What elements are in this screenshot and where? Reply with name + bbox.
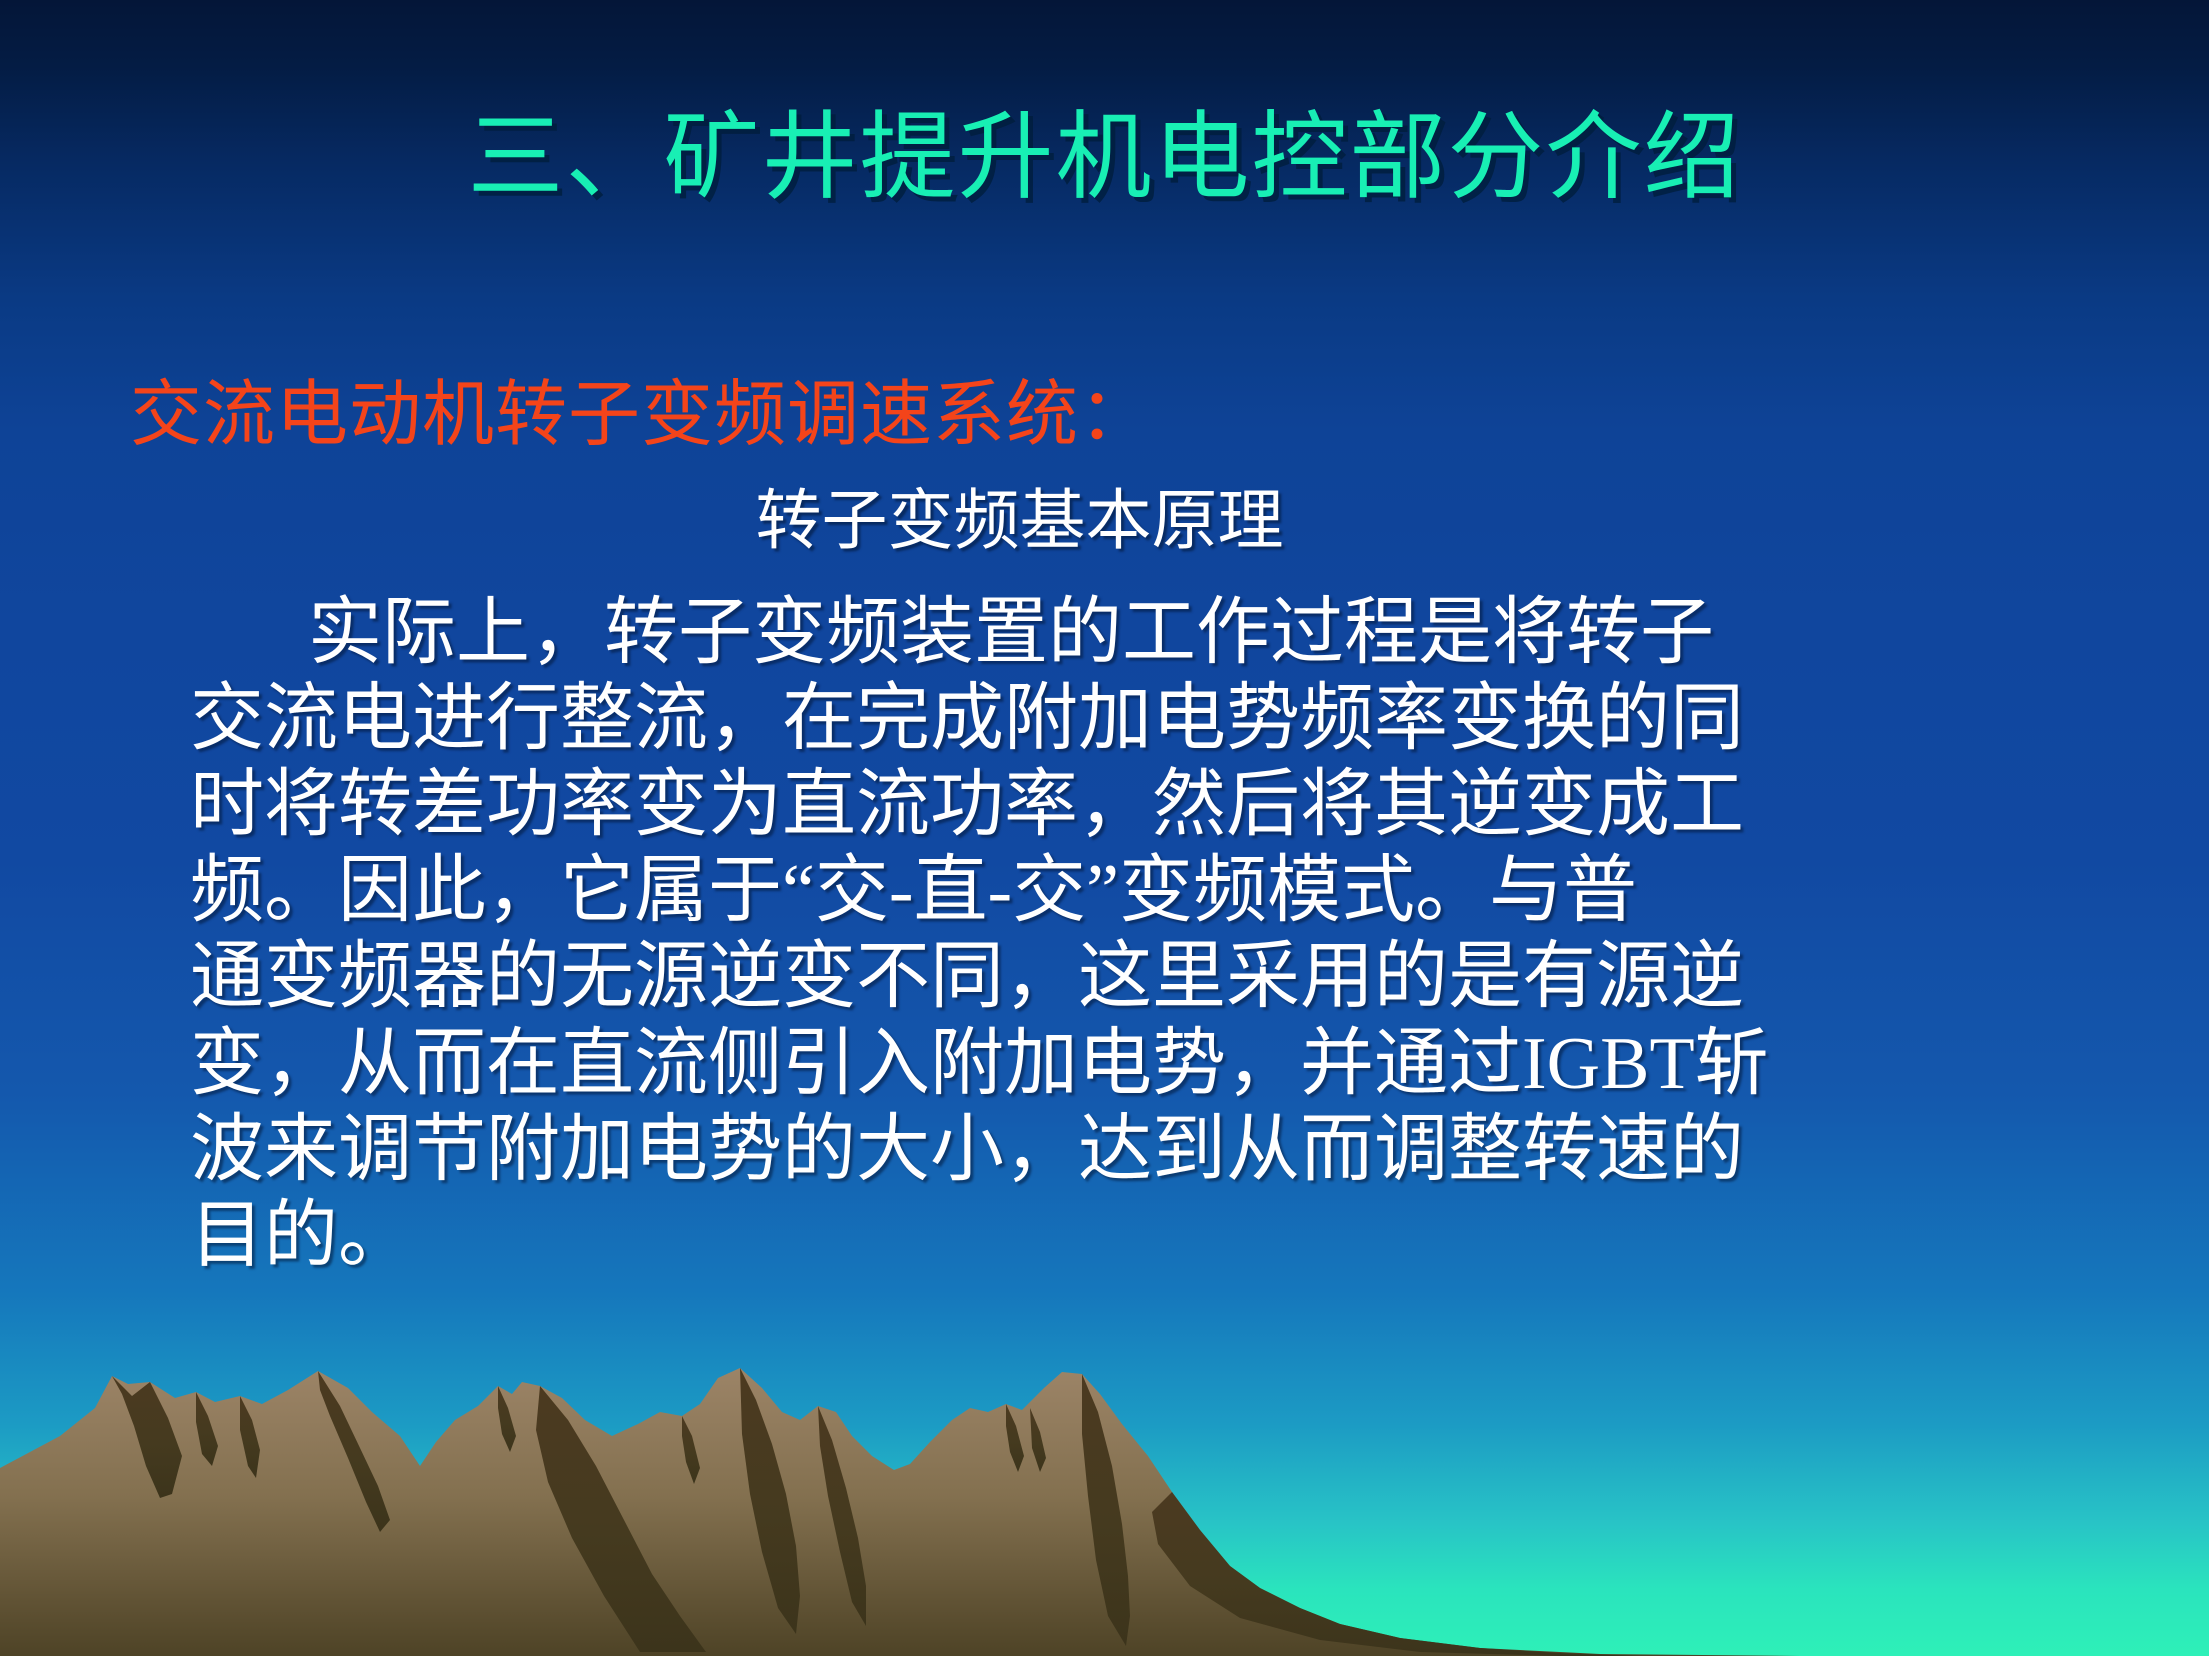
section-heading: 交流电动机转子变频调速系统：: [0, 375, 2209, 456]
slide-title: 三、矿井提升机电控部分介绍: [0, 108, 2209, 209]
mountain-range-silhouette: [0, 1316, 2209, 1656]
paragraph-line: 频。因此，它属于“交-直-交”变频模式。与普: [190, 848, 2109, 934]
presentation-slide: 三、矿井提升机电控部分介绍 交流电动机转子变频调速系统： 转子变频基本原理 实际…: [0, 0, 2209, 1656]
paragraph-line: 时将转差功率变为直流功率，然后将其逆变成工: [190, 762, 2109, 848]
paragraph-line: 目的。: [190, 1193, 2109, 1279]
sub-heading: 转子变频基本原理: [0, 484, 2209, 560]
paragraph-line: 变，从而在直流侧引入附加电势，并通过IGBT斩: [190, 1021, 2109, 1107]
paragraph-line: 实际上，转子变频装置的工作过程是将转子: [190, 590, 2109, 676]
paragraph-line: 波来调节附加电势的大小，达到从而调整转速的: [190, 1107, 2109, 1193]
slide-body: 交流电动机转子变频调速系统： 转子变频基本原理 实际上，转子变频装置的工作过程是…: [0, 375, 2209, 1279]
paragraph-line: 通变频器的无源逆变不同，这里采用的是有源逆: [190, 934, 2109, 1020]
body-paragraph: 实际上，转子变频装置的工作过程是将转子 交流电进行整流，在完成附加电势频率变换的…: [0, 590, 2209, 1280]
paragraph-line: 交流电进行整流，在完成附加电势频率变换的同: [190, 676, 2109, 762]
